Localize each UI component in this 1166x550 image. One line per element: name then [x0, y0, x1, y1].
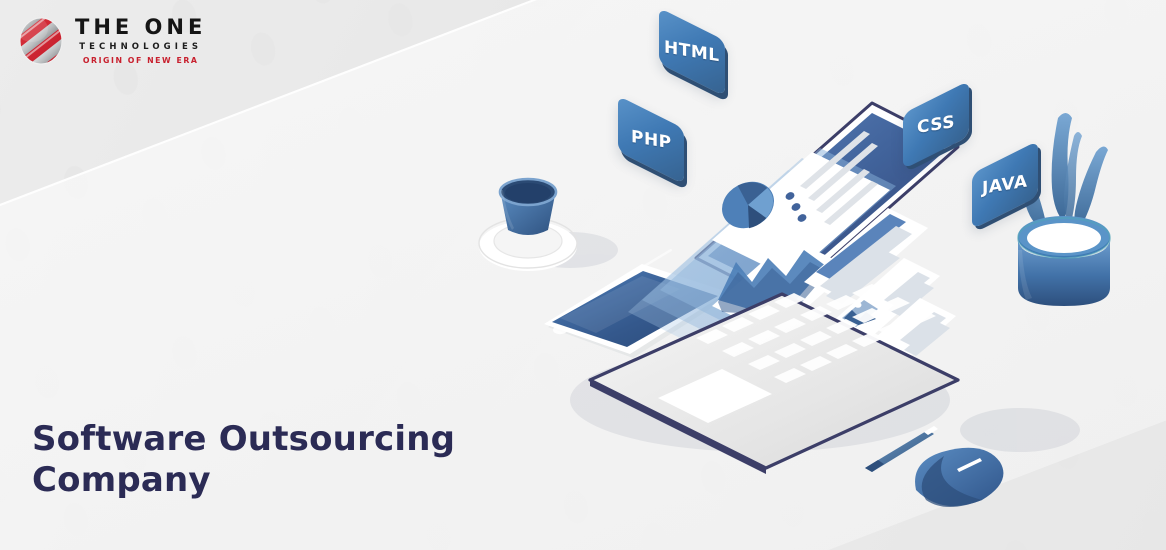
- striped-sphere-icon: [18, 16, 64, 66]
- coffee-cup-group: [479, 179, 577, 271]
- hero-banner: THE ONE TECHNOLOGIES ORIGIN OF NEW ERA S…: [0, 0, 1166, 550]
- tech-badge-css-label: CSS: [917, 112, 955, 138]
- tech-badge-html-label: HTML: [664, 38, 720, 67]
- logo-tagline: ORIGIN OF NEW ERA: [83, 57, 199, 65]
- logo[interactable]: THE ONE TECHNOLOGIES ORIGIN OF NEW ERA: [18, 16, 206, 66]
- tech-badge-java-label: JAVA: [982, 171, 1028, 198]
- logo-wordmark: THE ONE TECHNOLOGIES ORIGIN OF NEW ERA: [75, 17, 206, 64]
- tech-badge-php-label: PHP: [631, 127, 672, 153]
- computer-mouse: [915, 448, 1003, 507]
- logo-sub-text: TECHNOLOGIES: [79, 43, 202, 52]
- page-title: Software Outsourcing Company: [32, 419, 455, 502]
- isometric-workspace-svg: [460, 0, 1166, 550]
- hero-illustration: HTML PHP CSS JAVA: [460, 0, 1166, 550]
- logo-main-text: THE ONE: [75, 17, 206, 38]
- potted-plant: [1018, 113, 1110, 306]
